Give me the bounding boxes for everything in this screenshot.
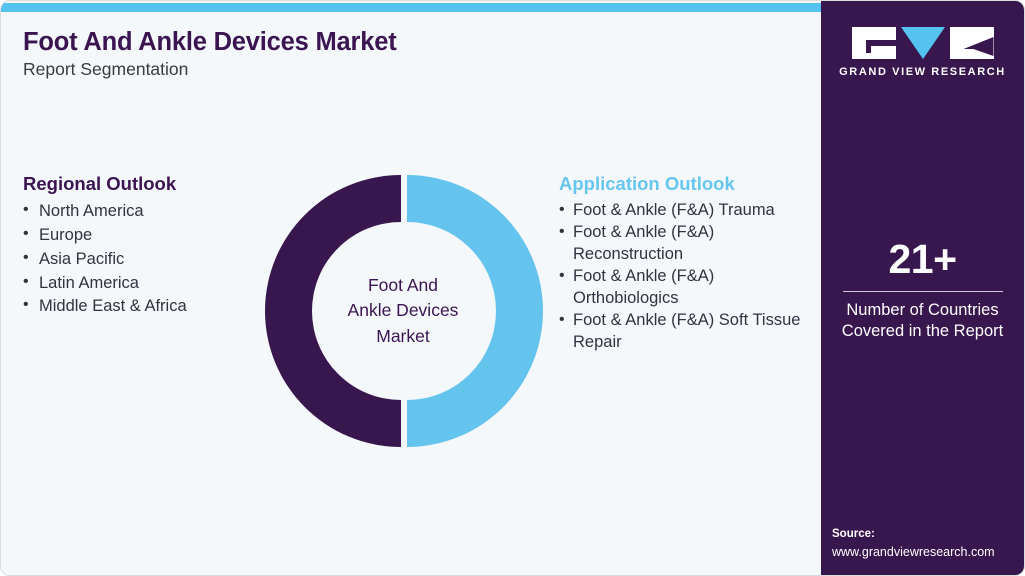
market-donut-chart: Foot And Ankle Devices Market xyxy=(263,171,543,451)
regional-outlook-list: North America Europe Asia Pacific Latin … xyxy=(23,200,253,318)
stat-caption: Number of Countries Covered in the Repor… xyxy=(821,300,1024,343)
application-outlook-heading: Application Outlook xyxy=(559,173,809,194)
logo-r-icon xyxy=(950,27,994,59)
application-outlook-list: Foot & Ankle (F&A) Trauma Foot & Ankle (… xyxy=(559,200,809,354)
source-attribution: Source: www.grandviewresearch.com xyxy=(832,526,1024,561)
stat-caption-line-1: Number of Countries xyxy=(821,300,1024,321)
page-subtitle: Report Segmentation xyxy=(23,59,188,80)
source-label: Source: xyxy=(832,526,1024,543)
application-outlook-block: Application Outlook Foot & Ankle (F&A) T… xyxy=(559,173,809,354)
list-item: Foot & Ankle (F&A) Reconstruction xyxy=(559,222,809,266)
stat-divider xyxy=(843,291,1003,292)
donut-segment-left xyxy=(265,175,401,447)
list-item: North America xyxy=(23,200,253,223)
logo-g-icon xyxy=(852,27,896,59)
country-count-stat: 21+ Number of Countries Covered in the R… xyxy=(821,239,1024,343)
regional-outlook-block: Regional Outlook North America Europe As… xyxy=(23,173,253,319)
main-content-area: Foot And Ankle Devices Market Report Seg… xyxy=(1,1,823,576)
regional-outlook-heading: Regional Outlook xyxy=(23,173,253,194)
logo-wordmark: GRAND VIEW RESEARCH xyxy=(821,66,1024,78)
logo-letter-marks xyxy=(821,27,1024,59)
donut-segment-right xyxy=(407,175,543,447)
page-title: Foot And Ankle Devices Market xyxy=(23,28,397,57)
brand-logo: GRAND VIEW RESEARCH xyxy=(821,27,1024,78)
list-item: Europe xyxy=(23,224,253,247)
source-url[interactable]: www.grandviewresearch.com xyxy=(832,543,1024,561)
list-item: Foot & Ankle (F&A) Trauma xyxy=(559,200,809,222)
infographic-card: Foot And Ankle Devices Market Report Seg… xyxy=(0,0,1025,576)
stat-caption-line-2: Covered in the Report xyxy=(821,321,1024,342)
list-item: Asia Pacific xyxy=(23,248,253,271)
brand-side-panel: GRAND VIEW RESEARCH 21+ Number of Countr… xyxy=(821,1,1024,576)
logo-v-triangle-icon xyxy=(901,27,945,59)
list-item: Foot & Ankle (F&A) Soft Tissue Repair xyxy=(559,310,809,354)
list-item: Foot & Ankle (F&A) Orthobiologics xyxy=(559,266,809,310)
list-item: Latin America xyxy=(23,272,253,295)
list-item: Middle East & Africa xyxy=(23,295,253,318)
stat-value: 21+ xyxy=(821,239,1024,280)
